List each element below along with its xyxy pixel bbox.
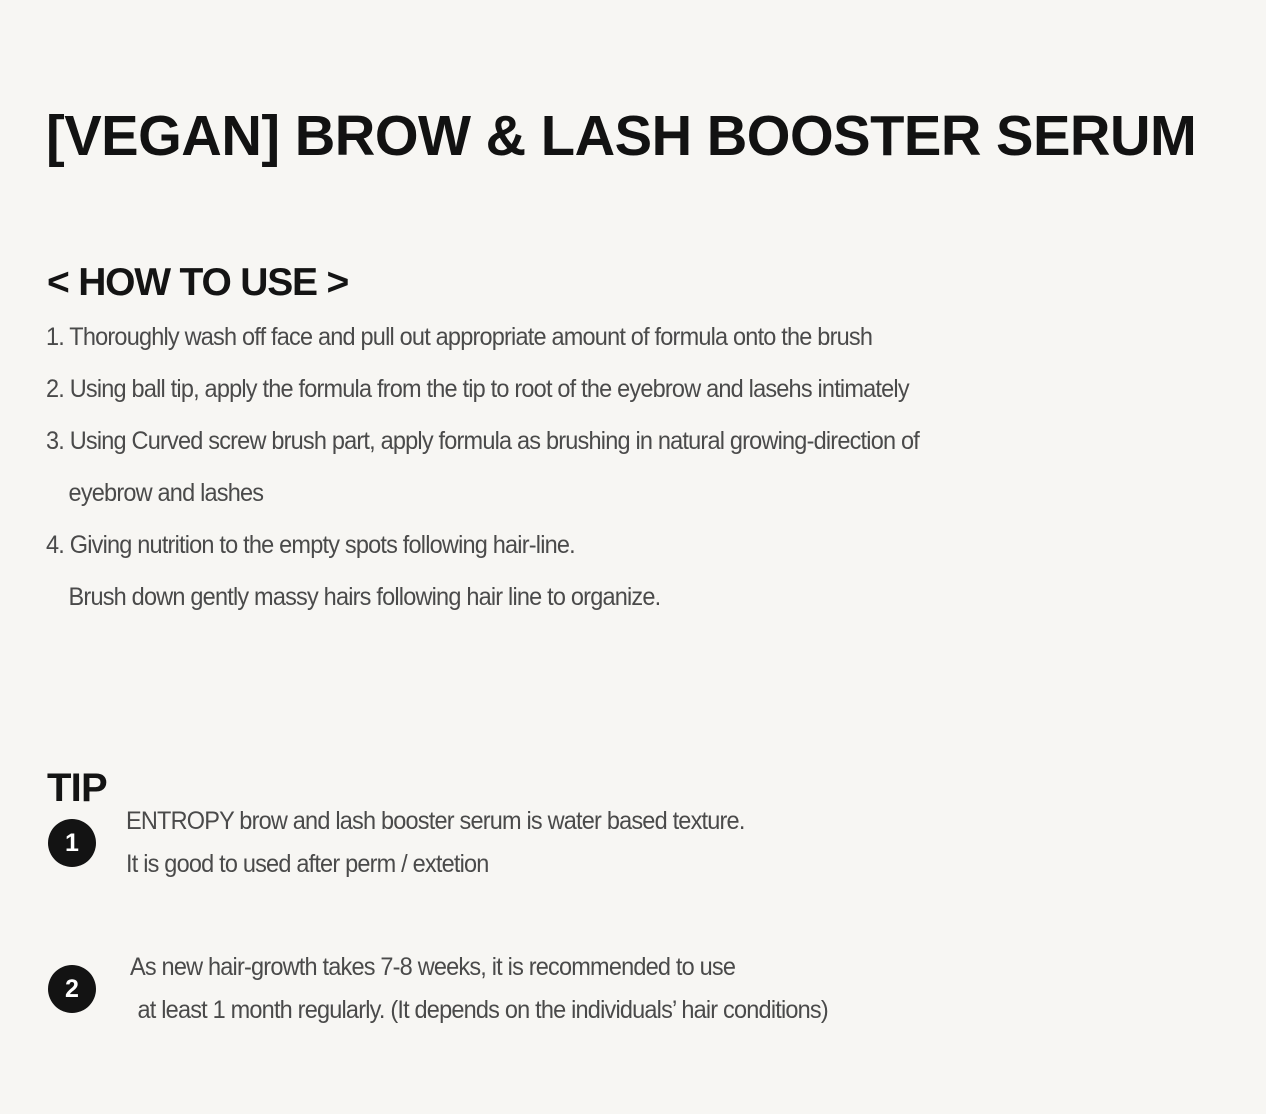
tip-number-badge-2: 2 [48,965,96,1013]
tip-text-1: ENTROPY brow and lash booster serum is w… [96,800,1226,886]
tip-text-2: As new hair-growth takes 7-8 weeks, it i… [96,946,1226,1032]
tip-2-line-1: As new hair-growth takes 7-8 weeks, it i… [130,946,1160,989]
page-title: [VEGAN] BROW & LASH BOOSTER SERUM [46,104,1208,168]
tip-1-line-1: ENTROPY brow and lash booster serum is w… [126,800,1160,843]
tip-2-line-2: at least 1 month regularly. (It depends … [130,989,1160,1032]
how-to-use-heading: < HOW TO USE > [47,260,348,306]
tip-number-badge-1: 1 [48,819,96,867]
how-to-use-step-4-continuation: Brush down gently massy hairs following … [46,571,1155,623]
tip-item-1: 1 ENTROPY brow and lash booster serum is… [46,800,1226,886]
how-to-use-list: 1. Thoroughly wash off face and pull out… [46,311,1226,623]
how-to-use-step-1: 1. Thoroughly wash off face and pull out… [46,311,1155,363]
tip-item-2: 2 As new hair-growth takes 7-8 weeks, it… [46,946,1226,1032]
product-detail-page: [VEGAN] BROW & LASH BOOSTER SERUM < HOW … [0,0,1266,1114]
tip-list: 1 ENTROPY brow and lash booster serum is… [46,800,1226,1092]
how-to-use-step-2: 2. Using ball tip, apply the formula fro… [46,363,1155,415]
how-to-use-step-3-continuation: eyebrow and lashes [46,467,1155,519]
how-to-use-step-3: 3. Using Curved screw brush part, apply … [46,415,1155,467]
how-to-use-step-4: 4. Giving nutrition to the empty spots f… [46,519,1155,571]
tip-1-line-2: It is good to used after perm / extetion [126,843,1160,886]
